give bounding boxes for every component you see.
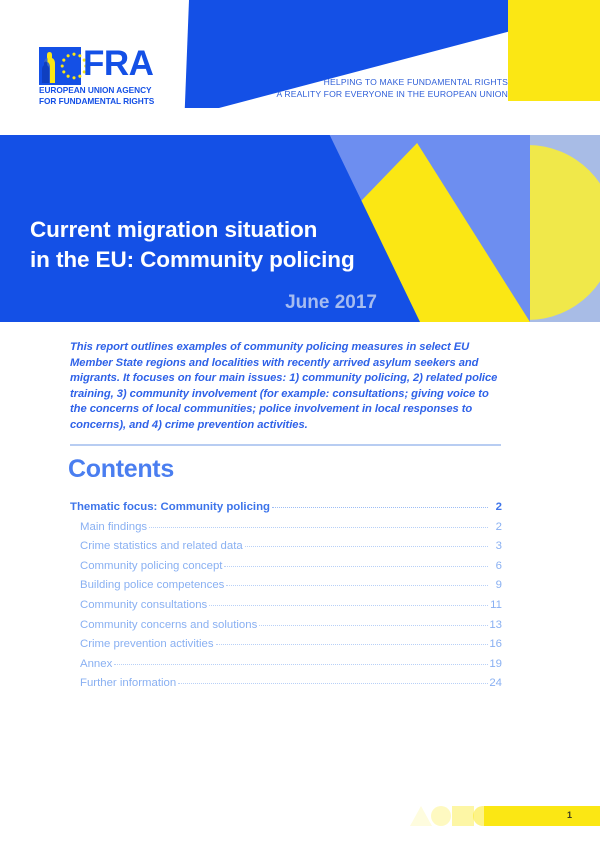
page-header: FRA EUROPEAN UNION AGENCY FOR FUNDAMENTA…: [0, 0, 600, 135]
toc-dot-leader: [149, 519, 488, 530]
toc-entry-label: Thematic focus: Community policing: [70, 501, 270, 513]
toc-entry-label: Community consultations: [80, 599, 207, 611]
toc-entry-page-number: 9: [489, 579, 502, 591]
toc-dot-leader: [226, 577, 488, 588]
toc-entry-label: Community policing concept: [80, 560, 222, 572]
human-figures-icon: [41, 50, 59, 83]
logo-mark: FRA: [39, 47, 179, 85]
toc-entry-label: Crime prevention activities: [80, 638, 214, 650]
toc-entry-label: Community concerns and solutions: [80, 619, 257, 631]
toc-entry-page-number: 2: [489, 501, 502, 513]
header-yellow-block: [508, 0, 600, 101]
footer-yellow-bar: [484, 806, 600, 826]
page-title-line1: Current migration situation: [30, 215, 360, 245]
contents-list: Thematic focus: Community policing2Main …: [70, 499, 502, 695]
toc-entry[interactable]: Community consultations11: [70, 597, 502, 617]
contents-divider: [70, 444, 501, 446]
contents-heading: Contents: [68, 455, 174, 484]
toc-entry-label: Further information: [80, 677, 176, 689]
page-bottom-margin: [0, 828, 600, 848]
tagline-line2: A REALITY FOR EVERYONE IN THE EUROPEAN U…: [276, 89, 508, 101]
page-title: Current migration situation in the EU: C…: [30, 215, 360, 275]
toc-dot-leader: [216, 636, 488, 647]
toc-entry-page-number: 11: [489, 599, 502, 611]
toc-entry[interactable]: Further information24: [70, 675, 502, 695]
logo-acronym: FRA: [83, 44, 153, 84]
toc-entry-page-number: 13: [489, 619, 502, 631]
toc-entry-label: Main findings: [80, 521, 147, 533]
toc-entry-label: Crime statistics and related data: [80, 540, 243, 552]
toc-entry[interactable]: Crime prevention activities16: [70, 636, 502, 656]
toc-dot-leader: [259, 617, 488, 628]
toc-entry[interactable]: Main findings2: [70, 519, 502, 539]
logo-subtitle-line2: FOR FUNDAMENTAL RIGHTS: [39, 96, 181, 107]
page-title-line2: in the EU: Community policing: [30, 245, 360, 275]
title-banner: Current migration situation in the EU: C…: [0, 135, 600, 322]
toc-entry[interactable]: Thematic focus: Community policing2: [70, 499, 502, 519]
toc-dot-leader: [245, 538, 488, 549]
footer-square-icon: [452, 806, 474, 826]
toc-entry-page-number: 2: [489, 521, 502, 533]
document-page: FRA EUROPEAN UNION AGENCY FOR FUNDAMENTA…: [0, 0, 600, 848]
toc-entry[interactable]: Crime statistics and related data3: [70, 538, 502, 558]
toc-dot-leader: [114, 656, 488, 667]
header-tagline: HELPING TO MAKE FUNDAMENTAL RIGHTS A REA…: [276, 77, 508, 100]
toc-entry-label: Annex: [80, 658, 112, 670]
fra-logo: FRA EUROPEAN UNION AGENCY FOR FUNDAMENTA…: [39, 47, 179, 107]
toc-entry-page-number: 6: [489, 560, 502, 572]
tagline-line1: HELPING TO MAKE FUNDAMENTAL RIGHTS: [276, 77, 508, 89]
logo-subtitle: EUROPEAN UNION AGENCY FOR FUNDAMENTAL RI…: [39, 85, 181, 106]
toc-entry-label: Building police competences: [80, 579, 224, 591]
toc-entry-page-number: 3: [489, 540, 502, 552]
intro-paragraph: This report outlines examples of communi…: [70, 340, 502, 434]
logo-subtitle-line1: EUROPEAN UNION AGENCY: [39, 85, 181, 96]
footer-triangle-icon: [410, 806, 432, 826]
toc-dot-leader: [209, 597, 488, 608]
toc-entry-page-number: 19: [489, 658, 502, 670]
toc-dot-leader: [178, 675, 488, 686]
toc-entry[interactable]: Building police competences9: [70, 577, 502, 597]
toc-entry[interactable]: Community policing concept6: [70, 558, 502, 578]
toc-entry[interactable]: Annex19: [70, 656, 502, 676]
page-footer: 1: [0, 806, 600, 828]
toc-entry[interactable]: Community concerns and solutions13: [70, 617, 502, 637]
footer-page-number: 1: [567, 810, 572, 820]
publication-date: June 2017: [30, 292, 377, 314]
toc-entry-page-number: 24: [489, 677, 502, 689]
footer-circle-icon: [431, 806, 451, 826]
toc-dot-leader: [224, 558, 488, 569]
toc-dot-leader: [272, 499, 488, 510]
toc-entry-page-number: 16: [489, 638, 502, 650]
